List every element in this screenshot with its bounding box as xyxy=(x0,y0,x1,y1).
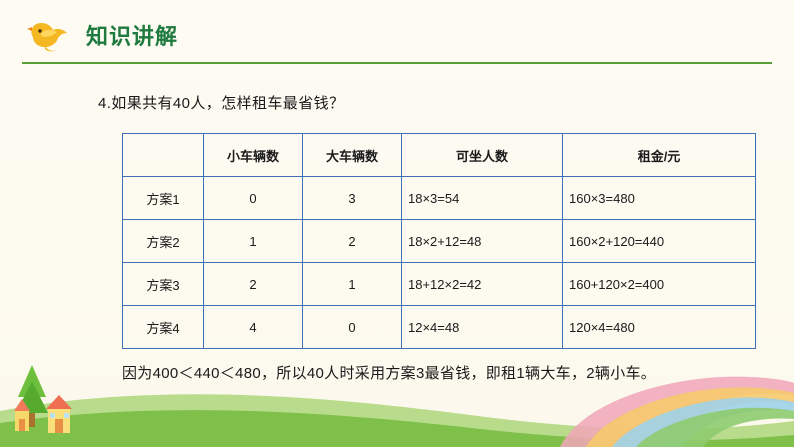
row-small-cars: 1 xyxy=(204,220,303,263)
table-header-row: 小车辆数 大车辆数 可坐人数 租金/元 xyxy=(123,134,756,177)
question-text: 4.如果共有40人，怎样租车最省钱？ xyxy=(98,92,344,113)
page-title: 知识讲解 xyxy=(86,19,178,51)
row-fee: 120×4=480 xyxy=(563,306,756,349)
row-fee: 160×2+120=440 xyxy=(563,220,756,263)
row-seats: 18×2+12=48 xyxy=(402,220,563,263)
table-row: 方案2 1 2 18×2+12=48 160×2+120=440 xyxy=(123,220,756,263)
table-row: 方案3 2 1 18+12×2=42 160+120×2=400 xyxy=(123,263,756,306)
row-seats: 12×4=48 xyxy=(402,306,563,349)
table-header-seats: 可坐人数 xyxy=(402,134,563,177)
row-small-cars: 4 xyxy=(204,306,303,349)
row-label: 方案2 xyxy=(123,220,204,263)
table-row: 方案4 4 0 12×4=48 120×4=480 xyxy=(123,306,756,349)
row-fee: 160+120×2=400 xyxy=(563,263,756,306)
row-small-cars: 0 xyxy=(204,177,303,220)
conclusion-text: 因为400＜440＜480，所以40人时采用方案3最省钱，即租1辆大车，2辆小车… xyxy=(122,362,742,386)
table-row: 方案1 0 3 18×3=54 160×3=480 xyxy=(123,177,756,220)
row-big-cars: 0 xyxy=(303,306,402,349)
row-seats: 18×3=54 xyxy=(402,177,563,220)
row-seats: 18+12×2=42 xyxy=(402,263,563,306)
slide: 知识讲解 4.如果共有40人，怎样租车最省钱？ 小车辆数 大车辆数 可坐人数 租… xyxy=(0,0,794,447)
bird-icon xyxy=(27,19,73,53)
row-big-cars: 1 xyxy=(303,263,402,306)
table-header-fee: 租金/元 xyxy=(563,134,756,177)
row-label: 方案4 xyxy=(123,306,204,349)
table-header-big-cars: 大车辆数 xyxy=(303,134,402,177)
row-big-cars: 3 xyxy=(303,177,402,220)
row-label: 方案1 xyxy=(123,177,204,220)
table-header-small-cars: 小车辆数 xyxy=(204,134,303,177)
plan-table: 小车辆数 大车辆数 可坐人数 租金/元 方案1 0 3 18×3=54 160×… xyxy=(122,133,756,349)
houses-icon xyxy=(6,361,106,447)
row-small-cars: 2 xyxy=(204,263,303,306)
table-header-blank xyxy=(123,134,204,177)
slide-header: 知识讲解 xyxy=(0,0,794,66)
row-big-cars: 2 xyxy=(303,220,402,263)
row-label: 方案3 xyxy=(123,263,204,306)
row-fee: 160×3=480 xyxy=(563,177,756,220)
header-divider xyxy=(22,62,772,64)
